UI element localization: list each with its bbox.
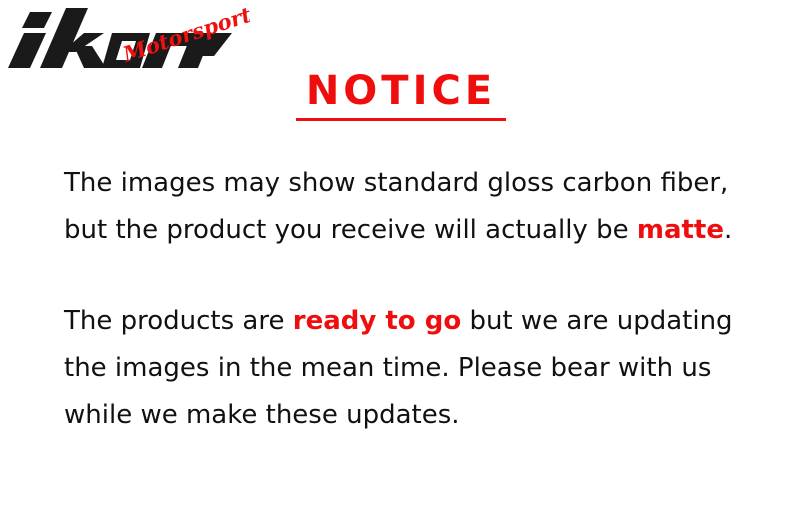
paragraph-1-line-2: but the product you receive will actuall… <box>64 207 764 254</box>
paragraph-2-line-3: while we make these updates. <box>64 392 764 439</box>
para1-line1-text: The images may show standard gloss carbo… <box>64 168 728 198</box>
para2-line2-text: the images in the mean time. Please bear… <box>64 353 711 383</box>
brand-logo: Motorsports <box>0 0 250 80</box>
brand-logo-artwork: Motorsports <box>0 0 250 80</box>
page-title: NOTICE <box>296 68 506 118</box>
para2-line3-text: while we make these updates. <box>64 400 460 430</box>
matte-highlight: matte <box>637 215 724 245</box>
para1-line2-suffix: . <box>724 215 732 245</box>
ready-to-go-highlight: ready to go <box>293 306 461 336</box>
para1-line2-prefix: but the product you receive will actuall… <box>64 215 637 245</box>
para2-line1-suffix: but we are updating <box>461 306 732 336</box>
para2-line1-prefix: The products are <box>64 306 293 336</box>
paragraph-2-line-2: the images in the mean time. Please bear… <box>64 345 764 392</box>
paragraph-2-line-1: The products are ready to go but we are … <box>64 298 764 345</box>
paragraph-spacer <box>64 254 764 298</box>
notice-body: The images may show standard gloss carbo… <box>64 160 764 439</box>
heading-underline <box>296 118 506 121</box>
paragraph-1-line-1: The images may show standard gloss carbo… <box>64 160 764 207</box>
notice-heading-block: NOTICE <box>296 68 506 121</box>
